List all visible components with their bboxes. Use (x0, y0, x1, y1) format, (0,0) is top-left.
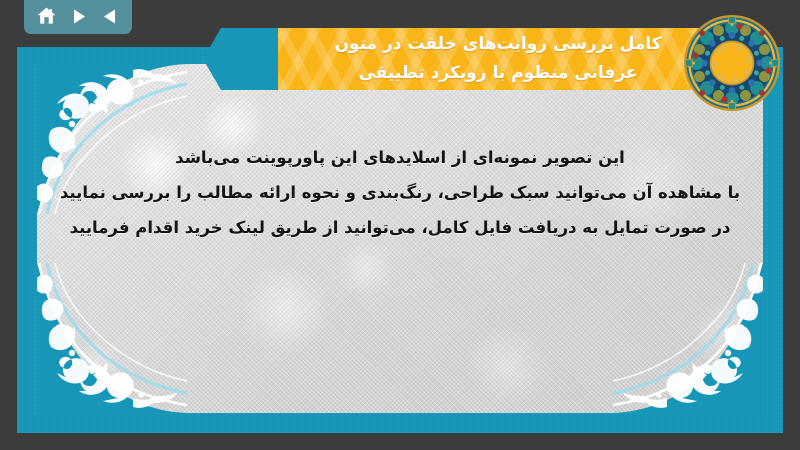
home-button[interactable] (33, 4, 59, 28)
next-button[interactable] (65, 4, 91, 28)
previous-button[interactable] (97, 4, 123, 28)
body-line: این تصویر نمونه‌ای از اسلایدهای این پاور… (51, 140, 749, 175)
body-line: در صورت تمایل به دریافت فایل کامل، می‌تو… (51, 210, 749, 245)
slide-body-text: این تصویر نمونه‌ای از اسلایدهای این پاور… (37, 64, 763, 245)
navigation-toolbar[interactable] (24, 0, 132, 34)
slide-preview-stage: این تصویر نمونه‌ای از اسلایدهای این پاور… (0, 0, 800, 450)
body-line: با مشاهده آن می‌توانید سبک طراحی، رنگ‌بن… (51, 175, 749, 210)
title-line: کامل بررسی روایت‌های خلقت در متون (292, 30, 704, 59)
